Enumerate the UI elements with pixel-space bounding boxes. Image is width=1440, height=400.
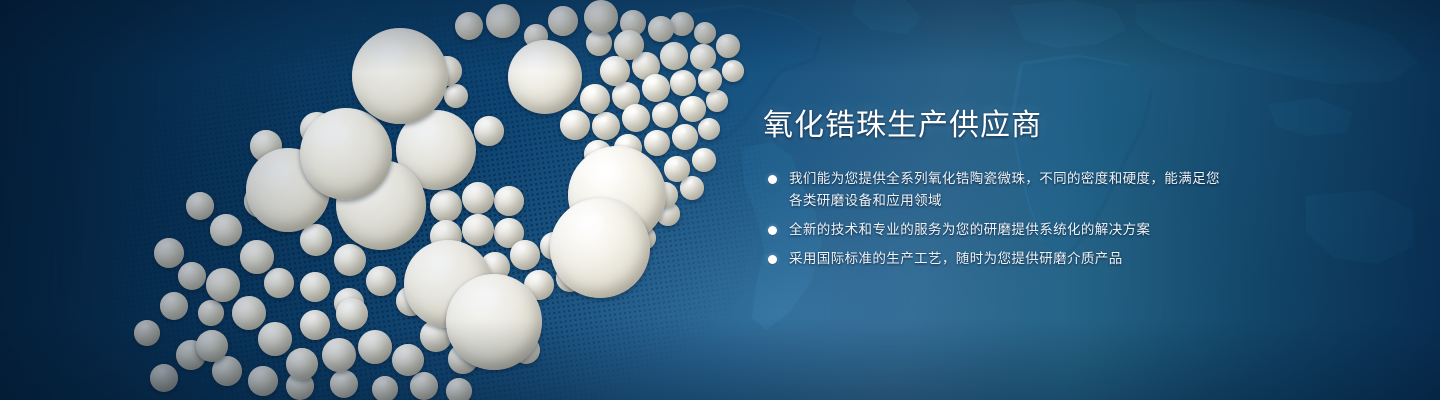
bullet-dot-icon <box>768 226 777 235</box>
banner-heading: 氧化锆珠生产供应商 <box>763 106 1233 146</box>
bullet-dot-icon <box>768 255 777 264</box>
banner-copy: 氧化锆珠生产供应商 我们能为您提供全系列氧化锆陶瓷微珠，不同的密度和硬度，能满足… <box>763 106 1233 277</box>
list-item: 采用国际标准的生产工艺，随时为您提供研磨介质产品 <box>763 248 1233 270</box>
bullet-dot-icon <box>768 175 777 184</box>
feature-bullet-list: 我们能为您提供全系列氧化锆陶瓷微珠，不同的密度和硬度，能满足您各类研磨设备和应用… <box>763 168 1233 270</box>
list-item: 我们能为您提供全系列氧化锆陶瓷微珠，不同的密度和硬度，能满足您各类研磨设备和应用… <box>763 168 1233 212</box>
bullet-text: 采用国际标准的生产工艺，随时为您提供研磨介质产品 <box>789 251 1123 266</box>
list-item: 全新的技术和专业的服务为您的研磨提供系统化的解决方案 <box>763 219 1233 241</box>
hero-banner: 氧化锆珠生产供应商 我们能为您提供全系列氧化锆陶瓷微珠，不同的密度和硬度，能满足… <box>0 0 1440 400</box>
bullet-text: 我们能为您提供全系列氧化锆陶瓷微珠，不同的密度和硬度，能满足您各类研磨设备和应用… <box>789 171 1220 208</box>
bullet-text: 全新的技术和专业的服务为您的研磨提供系统化的解决方案 <box>789 222 1150 237</box>
